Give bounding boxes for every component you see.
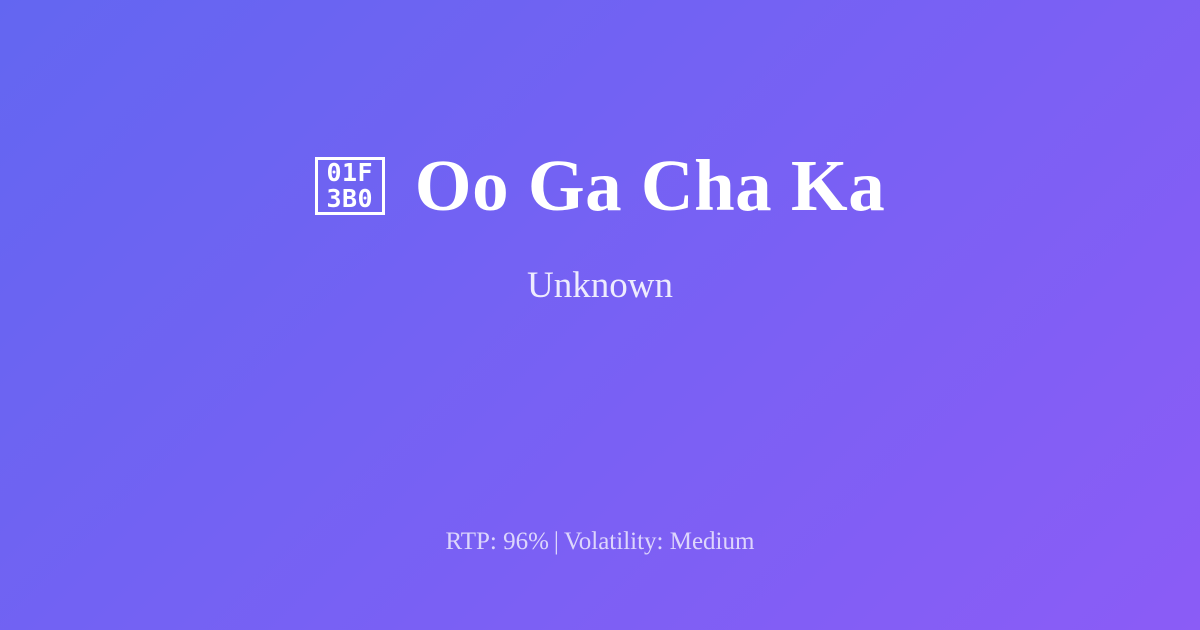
tofu-codepoint-bottom: 3B0	[326, 186, 373, 212]
meta-separator: |	[549, 528, 564, 555]
hero-block: 01F 3B0 Oo Ga Cha Ka Unknown	[0, 0, 1200, 490]
volatility-value: Volatility: Medium	[564, 528, 755, 555]
meta-line: RTP: 96%|Volatility: Medium	[0, 528, 1200, 556]
tofu-codepoint-top: 01F	[326, 160, 373, 186]
title-row: 01F 3B0 Oo Ga Cha Ka	[315, 149, 885, 222]
rtp-value: RTP: 96%	[446, 528, 549, 555]
slot-machine-icon: 01F 3B0	[315, 157, 385, 215]
page-title: Oo Ga Cha Ka	[415, 149, 885, 222]
page-subtitle: Unknown	[527, 222, 673, 307]
og-card: 01F 3B0 Oo Ga Cha Ka Unknown RTP: 96%|Vo…	[0, 0, 1200, 630]
